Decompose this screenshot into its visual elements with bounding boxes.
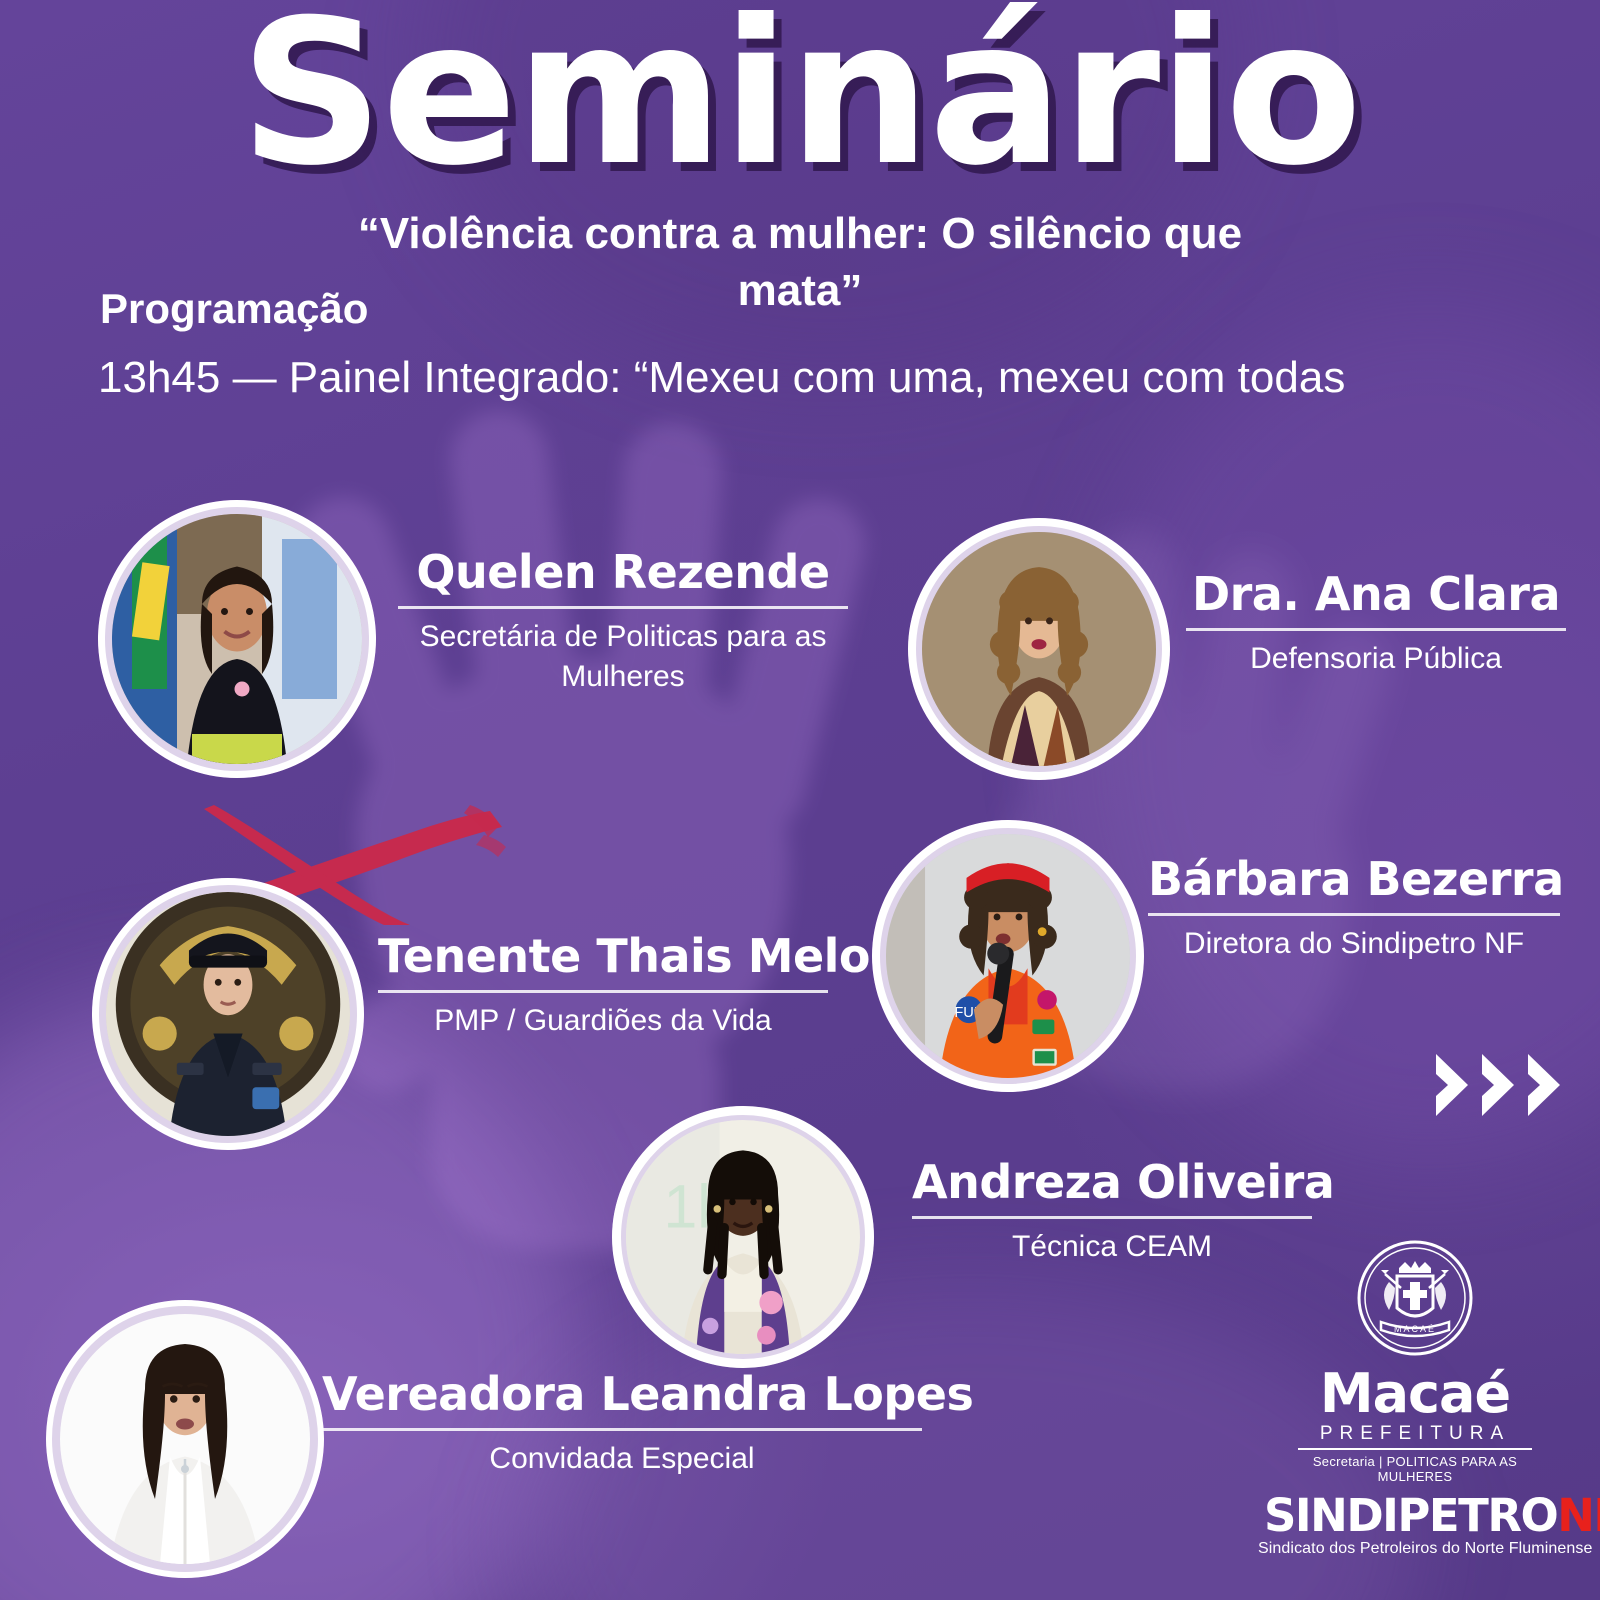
avatar-image-andreza-oliveira: 1lá [626, 1120, 860, 1354]
speaker-name-andreza-oliveira: Andreza Oliveira [912, 1158, 1312, 1206]
speaker-role-andreza-oliveira: Técnica CEAM [912, 1227, 1312, 1267]
avatar-leandra-lopes [46, 1300, 324, 1578]
speaker-role-leandra-lopes: Convidada Especial [322, 1439, 922, 1479]
avatar-image-thais-melo [106, 892, 350, 1136]
macae-wordmark: Macaé [1290, 1367, 1540, 1421]
speaker-info-thais-melo: Tenente Thais Melo PMP / Guardiões da Vi… [378, 932, 828, 1041]
avatar-ana-clara [908, 518, 1170, 780]
speaker-divider [398, 606, 848, 609]
sindipetro-main: SINDIPETRO [1264, 1489, 1557, 1542]
avatar-quelen-rezende [98, 500, 376, 778]
avatar-image-barbara-bezerra: FUP [886, 834, 1130, 1078]
speaker-name-barbara-bezerra: Bárbara Bezerra [1148, 855, 1560, 903]
speaker-name-quelen-rezende: Quelen Rezende [398, 548, 848, 596]
avatar-andreza-oliveira: 1lá [612, 1106, 874, 1368]
sindipetro-wordmark: SINDIPETRONF [1264, 1493, 1600, 1538]
programacao-label: Programação [100, 285, 368, 333]
speaker-name-thais-melo: Tenente Thais Melo [378, 932, 828, 980]
logo-macae-prefeitura: MACAÉ Macaé PREFEITURA Secretaria | POLI… [1290, 1238, 1540, 1484]
avatar-image-quelen-rezende [112, 514, 362, 764]
speaker-divider [1148, 913, 1560, 916]
speaker-info-andreza-oliveira: Andreza Oliveira Técnica CEAM [912, 1158, 1312, 1267]
speaker-name-leandra-lopes: Vereadora Leandra Lopes [322, 1370, 922, 1418]
sindipetro-nf: NF [1557, 1489, 1600, 1542]
speaker-role-thais-melo: PMP / Guardiões da Vida [378, 1001, 828, 1041]
speaker-role-barbara-bezerra: Diretora do Sindipetro NF [1148, 924, 1560, 964]
avatar-barbara-bezerra: FUP [872, 820, 1144, 1092]
speaker-info-barbara-bezerra: Bárbara Bezerra Diretora do Sindipetro N… [1148, 855, 1560, 964]
speaker-info-quelen-rezende: Quelen Rezende Secretária de Politicas p… [398, 548, 848, 696]
speaker-role-ana-clara: Defensoria Pública [1186, 639, 1566, 679]
page-title: Seminário [0, 0, 1600, 194]
speaker-divider [322, 1428, 922, 1431]
background-drape-right [1080, 300, 1600, 1160]
poster-subtitle: “Violência contra a mulher: O silêncio q… [330, 205, 1270, 319]
avatar-image-leandra-lopes [60, 1314, 310, 1564]
svg-text:MACAÉ: MACAÉ [1394, 1324, 1436, 1334]
macae-coat-of-arms-icon: MACAÉ [1355, 1238, 1475, 1358]
poster-canvas: Seminário “Violência contra a mulher: O … [0, 0, 1600, 1600]
macae-prefeitura-label: PREFEITURA [1290, 1423, 1540, 1445]
triple-chevron-right-icon [1432, 1052, 1564, 1118]
speaker-info-ana-clara: Dra. Ana Clara Defensoria Pública [1186, 570, 1566, 679]
speaker-divider [912, 1216, 1312, 1219]
avatar-thais-melo [92, 878, 364, 1150]
speaker-divider [378, 990, 828, 993]
avatar-image-ana-clara [922, 532, 1156, 766]
speaker-name-ana-clara: Dra. Ana Clara [1186, 570, 1566, 618]
programacao-text: 13h45 — Painel Integrado: “Mexeu com uma… [98, 342, 1468, 413]
sindipetro-tagline: Sindicato dos Petroleiros do Norte Flumi… [1258, 1540, 1578, 1558]
speaker-role-quelen-rezende: Secretária de Politicas para as Mulheres [398, 617, 848, 696]
macae-divider [1298, 1448, 1532, 1450]
logo-sindipetro-nf: SINDIPETRONF Sindicato dos Petroleiros d… [1258, 1492, 1578, 1558]
hand-silhouette-icon [240, 330, 1000, 1230]
macae-secretariat-label: Secretaria | POLITICAS PARA AS MULHERES [1290, 1454, 1540, 1484]
speaker-divider [1186, 628, 1566, 631]
speaker-info-leandra-lopes: Vereadora Leandra Lopes Convidada Especi… [322, 1370, 922, 1479]
